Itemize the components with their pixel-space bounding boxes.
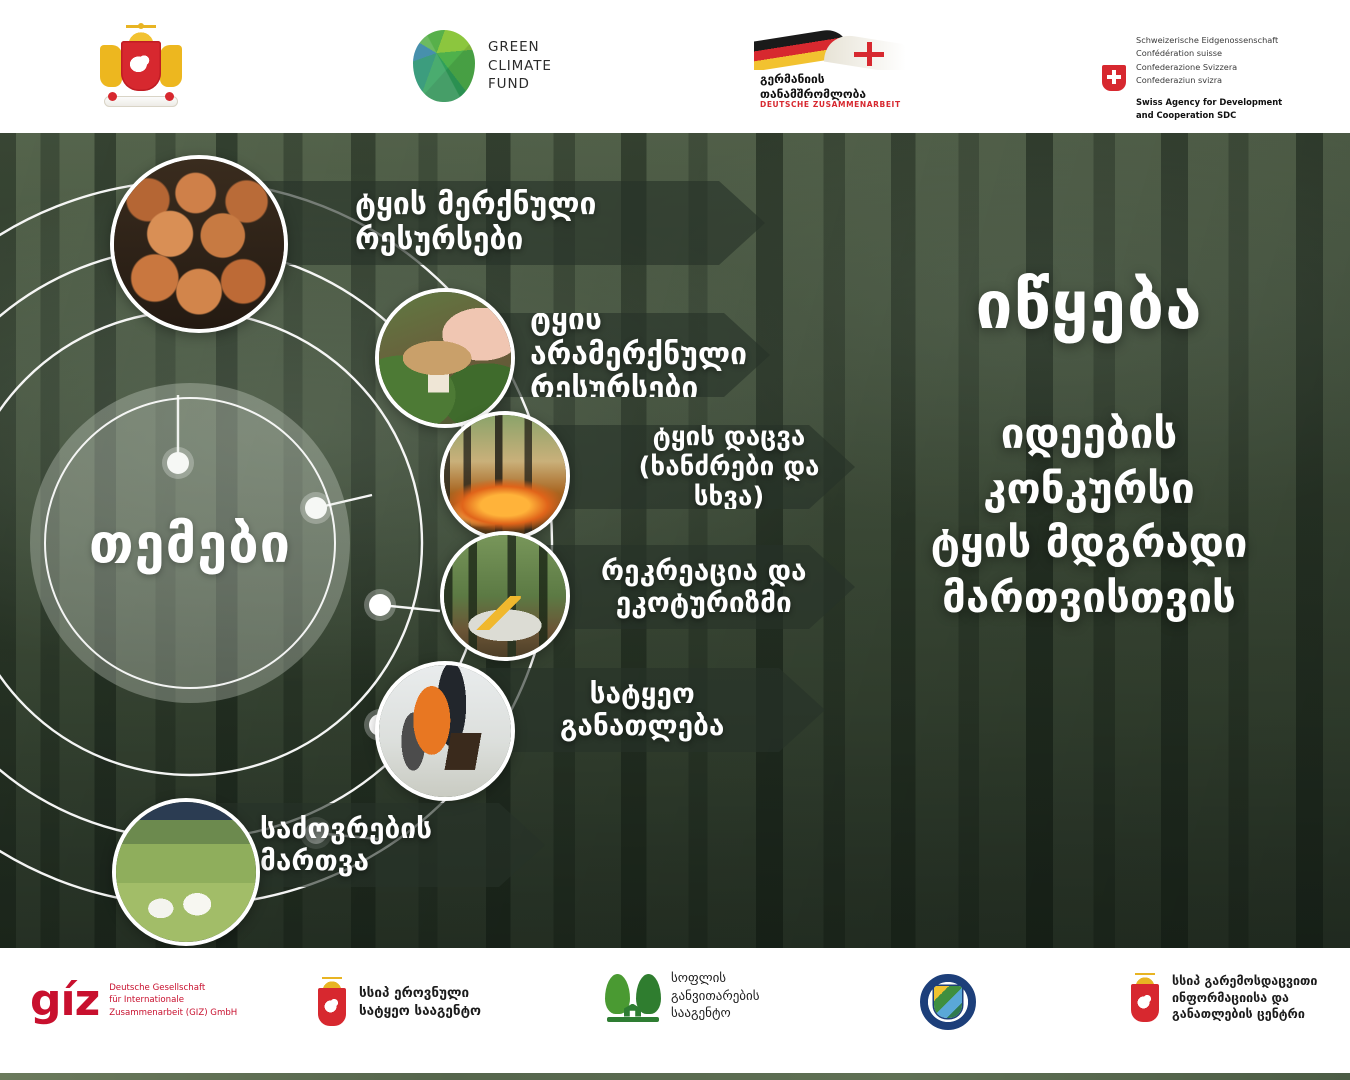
center-label: თემები bbox=[30, 383, 350, 703]
banner-timber-resources[interactable]: ტყის მერქნული რესურსები bbox=[205, 181, 765, 265]
green-climate-fund-logo: GREEN CLIMATE FUND bbox=[413, 30, 552, 102]
swiss-confederation-names: Schweizerische Eidgenossenschaft Confédé… bbox=[1136, 34, 1282, 87]
chainsaw-work-photo bbox=[379, 665, 511, 797]
photo-sheep-pasture[interactable] bbox=[112, 798, 260, 946]
mushroom-picking-photo bbox=[379, 292, 511, 424]
national-forestry-agency-label: სსიპ ეროვნული სატყეო სააგენტო bbox=[359, 984, 481, 1020]
banner-label-forestry-education: სატყეო განათლება bbox=[560, 678, 724, 743]
stacked-logs-photo bbox=[114, 159, 284, 329]
coat-of-arms-icon bbox=[1128, 972, 1162, 1024]
environmental-center-label: სსიპ გარემოსდაცვითი ინფორმაციისა და განა… bbox=[1172, 973, 1317, 1023]
headline-block: იწყება იდეების კონკურსი ტყის მდგრადი მარ… bbox=[874, 273, 1304, 625]
headline-subtitle: იდეების კონკურსი ტყის მდგრადი მართვისთვი… bbox=[874, 407, 1304, 625]
banner-forest-protection[interactable]: ტყის დაცვა (ხანძრები და სხვა) bbox=[545, 425, 855, 509]
photo-chainsaw[interactable] bbox=[375, 661, 515, 801]
photo-forest-fire[interactable] bbox=[440, 411, 570, 541]
trees-house-icon bbox=[605, 971, 661, 1023]
giz-logo: gíz Deutsche Gesellschaft für Internatio… bbox=[30, 982, 237, 1019]
rural-development-agency-label: სოფლის განვითარების სააგენტო bbox=[671, 970, 760, 1023]
ministry-seal-icon bbox=[920, 974, 976, 1030]
giz-label: Deutsche Gesellschaft für Internationale… bbox=[109, 982, 237, 1019]
green-climate-fund-label: GREEN CLIMATE FUND bbox=[488, 38, 552, 94]
camping-tent-photo bbox=[444, 535, 566, 657]
banner-recreation-ecotourism[interactable]: რეკრეაცია და ეკოტურიზმი bbox=[545, 545, 855, 629]
german-cooperation-label-de: DEUTSCHE ZUSAMMENARBEIT bbox=[760, 100, 901, 109]
ministry-seal-logo bbox=[920, 974, 976, 1030]
swiss-flag-icon bbox=[1102, 65, 1126, 91]
coat-of-arms-icon bbox=[98, 24, 184, 110]
poster-root: GREEN CLIMATE FUND გერმანიის თანამშრომლო… bbox=[0, 0, 1350, 1080]
banner-label-forest-protection: ტყის დაცვა (ხანძრები და სხვა) bbox=[603, 422, 855, 512]
german-cooperation-logo: გერმანიის თანამშრომლობა DEUTSCHE ZUSAMME… bbox=[748, 24, 908, 110]
swiss-confederation-logo: Schweizerische Eidgenossenschaft Confédé… bbox=[1102, 34, 1282, 122]
coat-of-arms-icon bbox=[315, 976, 349, 1028]
national-forestry-agency-logo: სსიპ ეროვნული სატყეო სააგენტო bbox=[315, 976, 481, 1028]
photo-stacked-logs[interactable] bbox=[110, 155, 288, 333]
photo-mushroom[interactable] bbox=[375, 288, 515, 428]
german-cooperation-label-ka: გერმანიის თანამშრომლობა bbox=[760, 72, 900, 102]
headline-main: იწყება bbox=[874, 273, 1304, 339]
rural-development-agency-logo: სოფლის განვითარების სააგენტო bbox=[605, 970, 760, 1023]
hero-section: თემები ტყის მერქნული რესურსები ტყის არამ… bbox=[0, 133, 1350, 948]
german-georgian-flag-icon bbox=[754, 30, 906, 70]
banner-label-timber-resources: ტყის მერქნული რესურსები bbox=[355, 188, 596, 258]
photo-camping-tent[interactable] bbox=[440, 531, 570, 661]
swiss-agency-label: Swiss Agency for Development and Coopera… bbox=[1136, 96, 1282, 122]
globe-icon bbox=[413, 30, 475, 102]
georgia-coat-of-arms-logo bbox=[98, 24, 184, 110]
bottom-strip bbox=[0, 1073, 1350, 1080]
sheep-pasture-photo bbox=[116, 802, 256, 942]
banner-label-pasture-management: საძოვრების მართვა bbox=[260, 813, 432, 878]
banner-forestry-education[interactable]: სატყეო განათლება bbox=[480, 668, 825, 752]
environmental-info-education-center-logo: სსიპ გარემოსდაცვითი ინფორმაციისა და განა… bbox=[1128, 972, 1317, 1024]
banner-non-timber-resources[interactable]: ტყის არამერქნული რესურსები bbox=[470, 313, 770, 397]
giz-wordmark: gíz bbox=[30, 982, 99, 1019]
banner-label-recreation-ecotourism: რეკრეაცია და ეკოტურიზმი bbox=[601, 555, 807, 620]
footer-logo-bar: gíz Deutsche Gesellschaft für Internatio… bbox=[0, 948, 1350, 1073]
forest-fire-photo bbox=[444, 415, 566, 537]
header-logo-bar: GREEN CLIMATE FUND გერმანიის თანამშრომლო… bbox=[0, 0, 1350, 133]
